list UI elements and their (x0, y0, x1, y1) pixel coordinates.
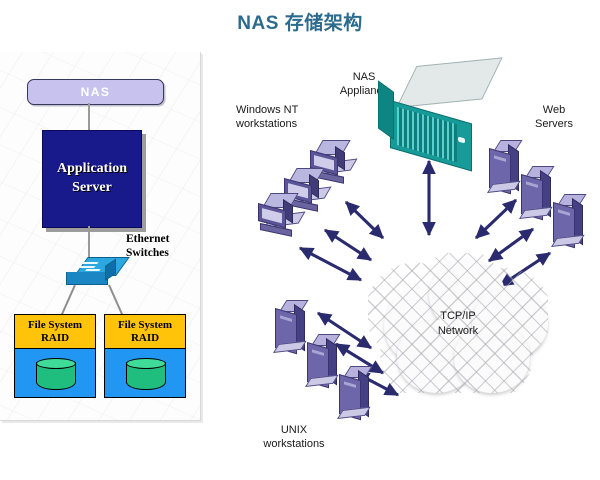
ethernet-label-line2: Switches (126, 246, 200, 260)
raid-label-line2: RAID (131, 332, 159, 345)
web-server-icon (486, 140, 520, 194)
left-diagram-panel: NAS Application Server Ethernet Switches… (0, 52, 201, 421)
unix-workstation-icon (304, 334, 338, 388)
unix-label-line2: workstations (248, 437, 340, 451)
ethernet-switches-label: Ethernet Switches (126, 232, 200, 261)
windows-nt-label-line2: workstations (236, 117, 328, 131)
tcpip-cloud-label: TCP/IP Network (368, 309, 548, 339)
arrow-cloud-to-winnt-3 (300, 248, 361, 280)
raid-node-header: File System RAID (105, 315, 185, 349)
raid-label-line2: RAID (41, 332, 69, 345)
raid-node-body (15, 349, 95, 395)
tcpip-cloud: TCP/IP Network (368, 253, 548, 393)
application-server-label-line2: Server (72, 179, 112, 198)
web-server-icon (550, 194, 584, 248)
disk-cylinder-icon (126, 358, 164, 388)
page-title: NAS 存储架构 (0, 8, 600, 35)
appliance-side-face (378, 80, 394, 140)
application-server-box: Application Server (42, 130, 142, 228)
application-server-label-line1: Application (57, 160, 127, 179)
windows-nt-label: Windows NT workstations (236, 103, 328, 132)
arrow-cloud-to-web-1 (476, 200, 516, 238)
nas-connector-line (88, 103, 90, 132)
switch-to-raid-line (108, 285, 123, 317)
tcpip-label-line2: Network (368, 324, 548, 339)
switch-to-raid-line (60, 285, 75, 317)
appliance-vent-fins (397, 107, 457, 162)
arrow-cloud-to-winnt-2 (325, 230, 371, 260)
unix-label-line1: UNIX (248, 423, 340, 437)
unix-workstation-icon (336, 366, 370, 420)
windows-nt-label-line1: Windows NT (236, 103, 328, 117)
web-servers-label: Web Servers (518, 103, 590, 132)
raid-label-line1: File System (28, 319, 82, 332)
disk-cylinder-icon (36, 358, 74, 388)
raid-node-header: File System RAID (15, 315, 95, 349)
appliance-indicator (458, 136, 465, 143)
web-servers-label-line1: Web (518, 103, 590, 117)
nas-badge: NAS (27, 79, 164, 105)
raid-node: File System RAID (14, 314, 96, 398)
switch-port-mark-icon (78, 266, 95, 268)
unix-label: UNIX workstations (248, 423, 340, 452)
web-servers-label-line2: Servers (518, 117, 590, 131)
switch-port-mark-icon (85, 269, 100, 271)
ethernet-label-line1: Ethernet (126, 232, 200, 246)
right-diagram-panel: NAS Appliance Windows NT workstations We… (228, 48, 600, 480)
switch-port-mark-icon (81, 262, 98, 264)
nas-appliance-icon (378, 66, 488, 158)
raid-label-line1: File System (118, 319, 172, 332)
raid-node-body (105, 349, 185, 395)
tcpip-label-line1: TCP/IP (368, 309, 548, 324)
arrow-cloud-to-winnt-1 (346, 202, 383, 238)
raid-node: File System RAID (104, 314, 186, 398)
web-server-icon (518, 166, 552, 220)
switch-front-face (66, 272, 108, 285)
unix-workstation-icon (272, 300, 306, 354)
windows-nt-workstation-icon (254, 193, 298, 229)
server-to-switch-line (88, 226, 90, 260)
